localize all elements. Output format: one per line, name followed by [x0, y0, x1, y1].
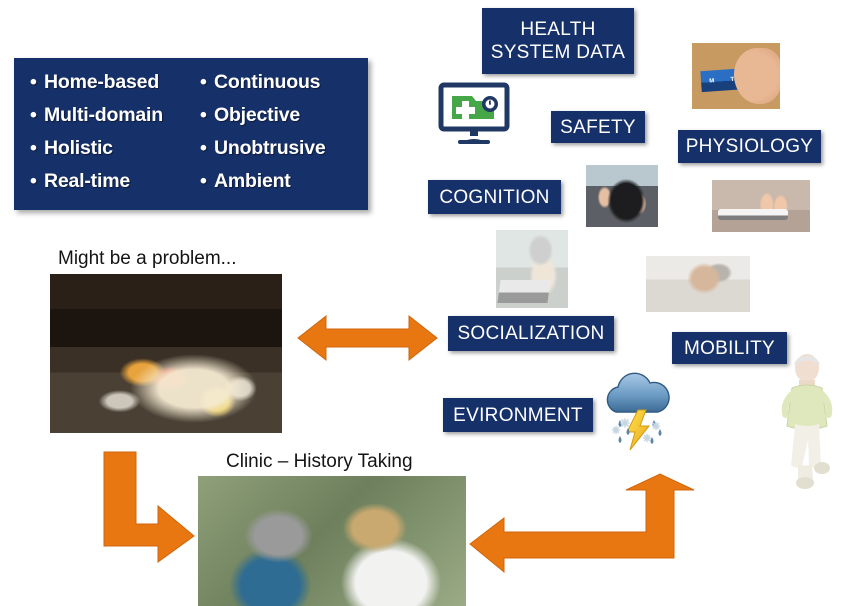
- domain-label-line2: SYSTEM DATA: [491, 41, 626, 64]
- feature-item: •Continuous: [200, 66, 368, 99]
- feature-item: •Multi-domain: [30, 99, 198, 132]
- feature-label: Holistic: [44, 137, 113, 159]
- photo-messy-home-medications: [50, 274, 282, 433]
- domain-label-safety: SAFETY: [551, 111, 645, 143]
- pill-day-label: M: [709, 78, 714, 84]
- photo-senior-on-laptop: [496, 230, 568, 308]
- caption-might-be-a-problem: Might be a problem...: [58, 248, 236, 270]
- feature-label: Real-time: [44, 170, 130, 192]
- arrow-home-to-domains: [296, 312, 439, 364]
- feature-item: •Ambient: [200, 165, 368, 198]
- bullet-icon: •: [30, 132, 44, 165]
- feature-label: Home-based: [44, 71, 159, 93]
- photo-clinic-consultation: [198, 476, 466, 606]
- walking-senior-figure: [772, 352, 842, 490]
- bullet-icon: •: [200, 165, 214, 198]
- feature-label: Multi-domain: [44, 104, 163, 126]
- domain-label-evironment: EVIRONMENT: [443, 398, 593, 432]
- feature-label: Unobtrusive: [214, 137, 326, 159]
- caption-clinic-history-taking: Clinic – History Taking: [226, 451, 413, 473]
- feature-item: •Holistic: [30, 132, 198, 165]
- storm-cloud-lightning-icon-svg: [594, 366, 682, 454]
- domain-label-mobility: MOBILITY: [672, 332, 787, 364]
- feature-item: •Unobtrusive: [200, 132, 368, 165]
- arrow-elbow-down-right-svg: [98, 448, 198, 563]
- domain-label-cognition: COGNITION: [428, 180, 561, 214]
- feature-item: •Objective: [200, 99, 368, 132]
- bullet-icon: •: [30, 99, 44, 132]
- feature-column-right: •Continuous •Objective •Unobtrusive •Amb…: [198, 66, 368, 210]
- walking-senior-figure-svg: [772, 352, 842, 490]
- domain-label-text: PHYSIOLOGY: [686, 135, 814, 158]
- domain-label-socialization: SOCIALIZATION: [448, 316, 614, 351]
- bullet-icon: •: [30, 66, 44, 99]
- domain-label-text: EVIRONMENT: [453, 404, 583, 427]
- photo-bathroom-scale: [712, 180, 810, 232]
- arrow-double-horizontal-svg: [296, 312, 439, 364]
- feature-item: •Home-based: [30, 66, 198, 99]
- feature-label: Objective: [214, 104, 300, 126]
- arrow-elbow-up-left-svg: [468, 472, 710, 578]
- feature-attributes-panel: •Home-based •Multi-domain •Holistic •Rea…: [14, 58, 368, 210]
- photo-pill-organizer: M T W: [692, 43, 780, 109]
- arrow-home-to-clinic: [98, 448, 198, 563]
- bullet-icon: •: [200, 66, 214, 99]
- domain-label-text: MOBILITY: [684, 337, 775, 360]
- feature-label: Ambient: [214, 170, 291, 192]
- storm-cloud-lightning-icon: [594, 366, 682, 454]
- arrow-domains-to-clinic: [468, 472, 710, 578]
- bullet-icon: •: [30, 165, 44, 198]
- laptop-device: [497, 280, 551, 303]
- monitor-medical-record-icon-svg: [438, 82, 510, 146]
- photo-driving-hands-on-wheel: [586, 165, 658, 227]
- feature-label: Continuous: [214, 71, 320, 93]
- feature-item: •Real-time: [30, 165, 198, 198]
- bullet-icon: •: [200, 99, 214, 132]
- domain-label-text: SAFETY: [560, 116, 636, 139]
- domain-label-health-system-data: HEALTH SYSTEM DATA: [482, 8, 634, 74]
- photo-senior-sleeping: [646, 256, 750, 312]
- feature-column-left: •Home-based •Multi-domain •Holistic •Rea…: [14, 66, 198, 210]
- pill-organizer-hand: [734, 48, 780, 103]
- domain-label-text: SOCIALIZATION: [457, 322, 604, 345]
- scale-platform: [718, 209, 789, 219]
- domain-label-text: COGNITION: [439, 186, 549, 209]
- domain-label-line1: HEALTH: [520, 18, 595, 41]
- bullet-icon: •: [200, 132, 214, 165]
- slide-canvas: •Home-based •Multi-domain •Holistic •Rea…: [0, 0, 850, 606]
- monitor-medical-record-icon: [438, 82, 510, 146]
- domain-label-physiology: PHYSIOLOGY: [678, 130, 821, 163]
